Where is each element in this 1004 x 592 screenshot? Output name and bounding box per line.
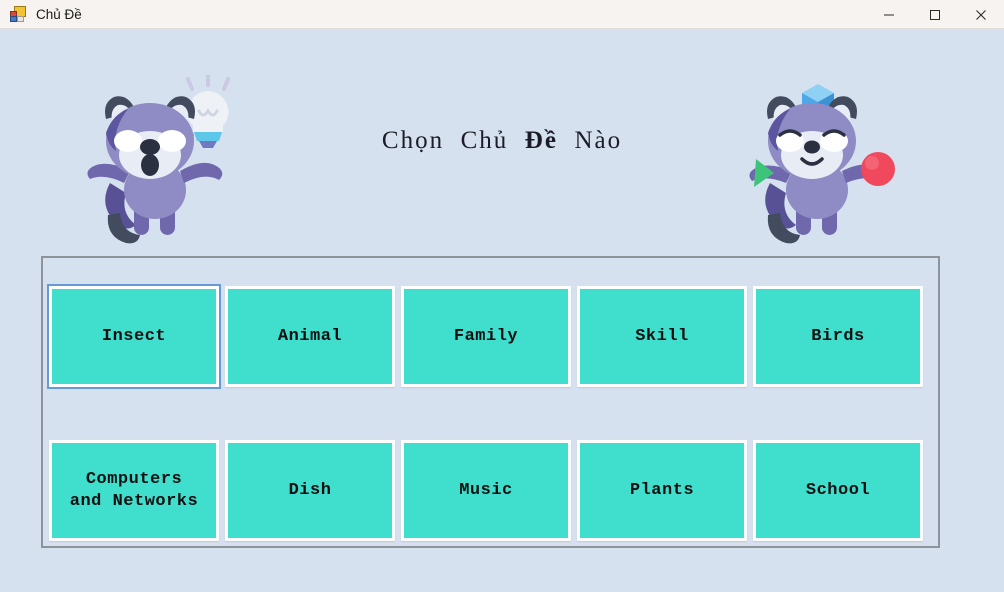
page-title-word-1: Chọn [382, 127, 444, 154]
raccoon-mascot-juggling [726, 71, 906, 252]
page-title-word-4: Nào [574, 127, 622, 154]
window-controls [866, 0, 1004, 29]
topic-button-animal[interactable]: Animal [225, 286, 395, 387]
topic-button-computers-and-networks[interactable]: Computers and Networks [49, 440, 219, 541]
topic-row-2: Computers and Networks Dish Music Plants… [43, 440, 938, 544]
title-bar: Chủ Đề [0, 0, 1004, 29]
client-area: Chọn Chủ Đề Nào [0, 29, 1004, 592]
topic-button-dish[interactable]: Dish [225, 440, 395, 541]
topic-button-birds[interactable]: Birds [753, 286, 923, 387]
minimize-icon[interactable] [866, 0, 912, 29]
topic-button-family[interactable]: Family [401, 286, 571, 387]
topic-button-insect[interactable]: Insect [49, 286, 219, 387]
topic-button-music[interactable]: Music [401, 440, 571, 541]
topic-row-1: Insect Animal Family Skill Birds [43, 286, 938, 390]
close-icon[interactable] [958, 0, 1004, 29]
page-title-word-3: Đề [525, 127, 558, 154]
windows-forms-icon [10, 6, 26, 22]
green-triangle-icon [754, 159, 774, 187]
application-window: Chủ Đề Chọn Chủ Đề Nào [0, 0, 1004, 592]
topic-button-plants[interactable]: Plants [577, 440, 747, 541]
topic-button-school[interactable]: School [753, 440, 923, 541]
window-title: Chủ Đề [36, 7, 82, 22]
raccoon-mascot-with-lightbulb [68, 75, 248, 252]
page-title-word-2: Chủ [461, 127, 509, 154]
red-ball-icon [861, 152, 895, 186]
topic-button-skill[interactable]: Skill [577, 286, 747, 387]
maximize-icon[interactable] [912, 0, 958, 29]
topic-panel: Insect Animal Family Skill Birds Compute… [41, 256, 940, 548]
